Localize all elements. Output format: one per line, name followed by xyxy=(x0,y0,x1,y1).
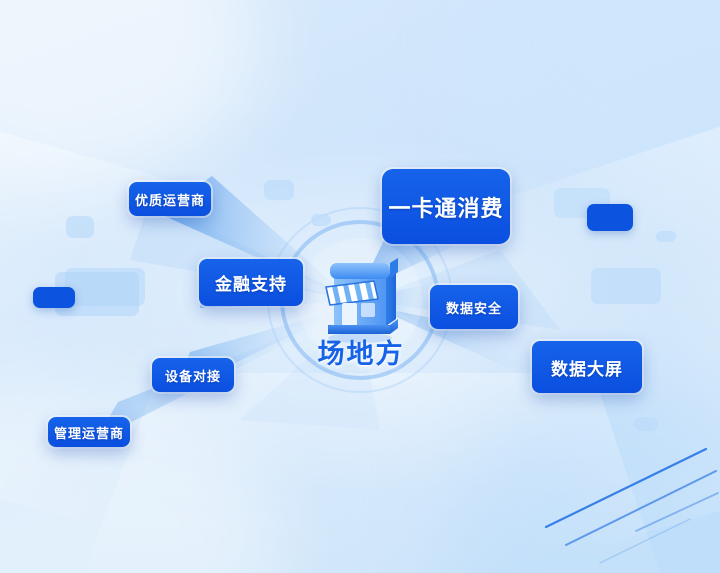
diagonal-streak-lines xyxy=(540,423,720,573)
infographic-canvas: 场地方 一卡通消费 数据大屏 数据安全 金融支持 优质运营商 设备对接 管理运营… xyxy=(0,0,720,573)
decor-rect-8 xyxy=(591,268,661,304)
center-label: 场地方 xyxy=(236,332,486,371)
decor-rect-accent-right xyxy=(587,204,633,231)
callout-shebei-duijie[interactable]: 设备对接 xyxy=(152,358,234,392)
callout-shuju-anquan[interactable]: 数据安全 xyxy=(430,285,518,329)
decor-rect-3 xyxy=(55,272,139,316)
decor-rect-2 xyxy=(65,268,145,306)
background-wash-bottom xyxy=(60,373,680,573)
decor-rect-1 xyxy=(66,216,94,238)
decor-rect-5 xyxy=(311,214,331,226)
corner-glow-bottom-right xyxy=(440,373,720,573)
decor-rect-9 xyxy=(634,417,658,431)
decor-rect-4 xyxy=(264,180,294,200)
callout-jinrong-zhichi[interactable]: 金融支持 xyxy=(199,259,303,306)
decor-rect-7 xyxy=(656,231,676,242)
callout-guanli-yunyingshang[interactable]: 管理运营商 xyxy=(48,417,130,447)
corner-glow-top-left xyxy=(0,0,260,190)
callout-yikatong-xiaofei[interactable]: 一卡通消费 xyxy=(382,169,510,244)
decor-rect-accent-left xyxy=(33,287,75,308)
callout-youzhi-yunyingshang[interactable]: 优质运营商 xyxy=(129,182,211,216)
corner-glow-bottom-left xyxy=(0,373,280,573)
decor-rect-6 xyxy=(554,188,610,218)
storefront-3d-icon xyxy=(312,243,408,343)
callout-shuju-daping[interactable]: 数据大屏 xyxy=(532,341,642,393)
